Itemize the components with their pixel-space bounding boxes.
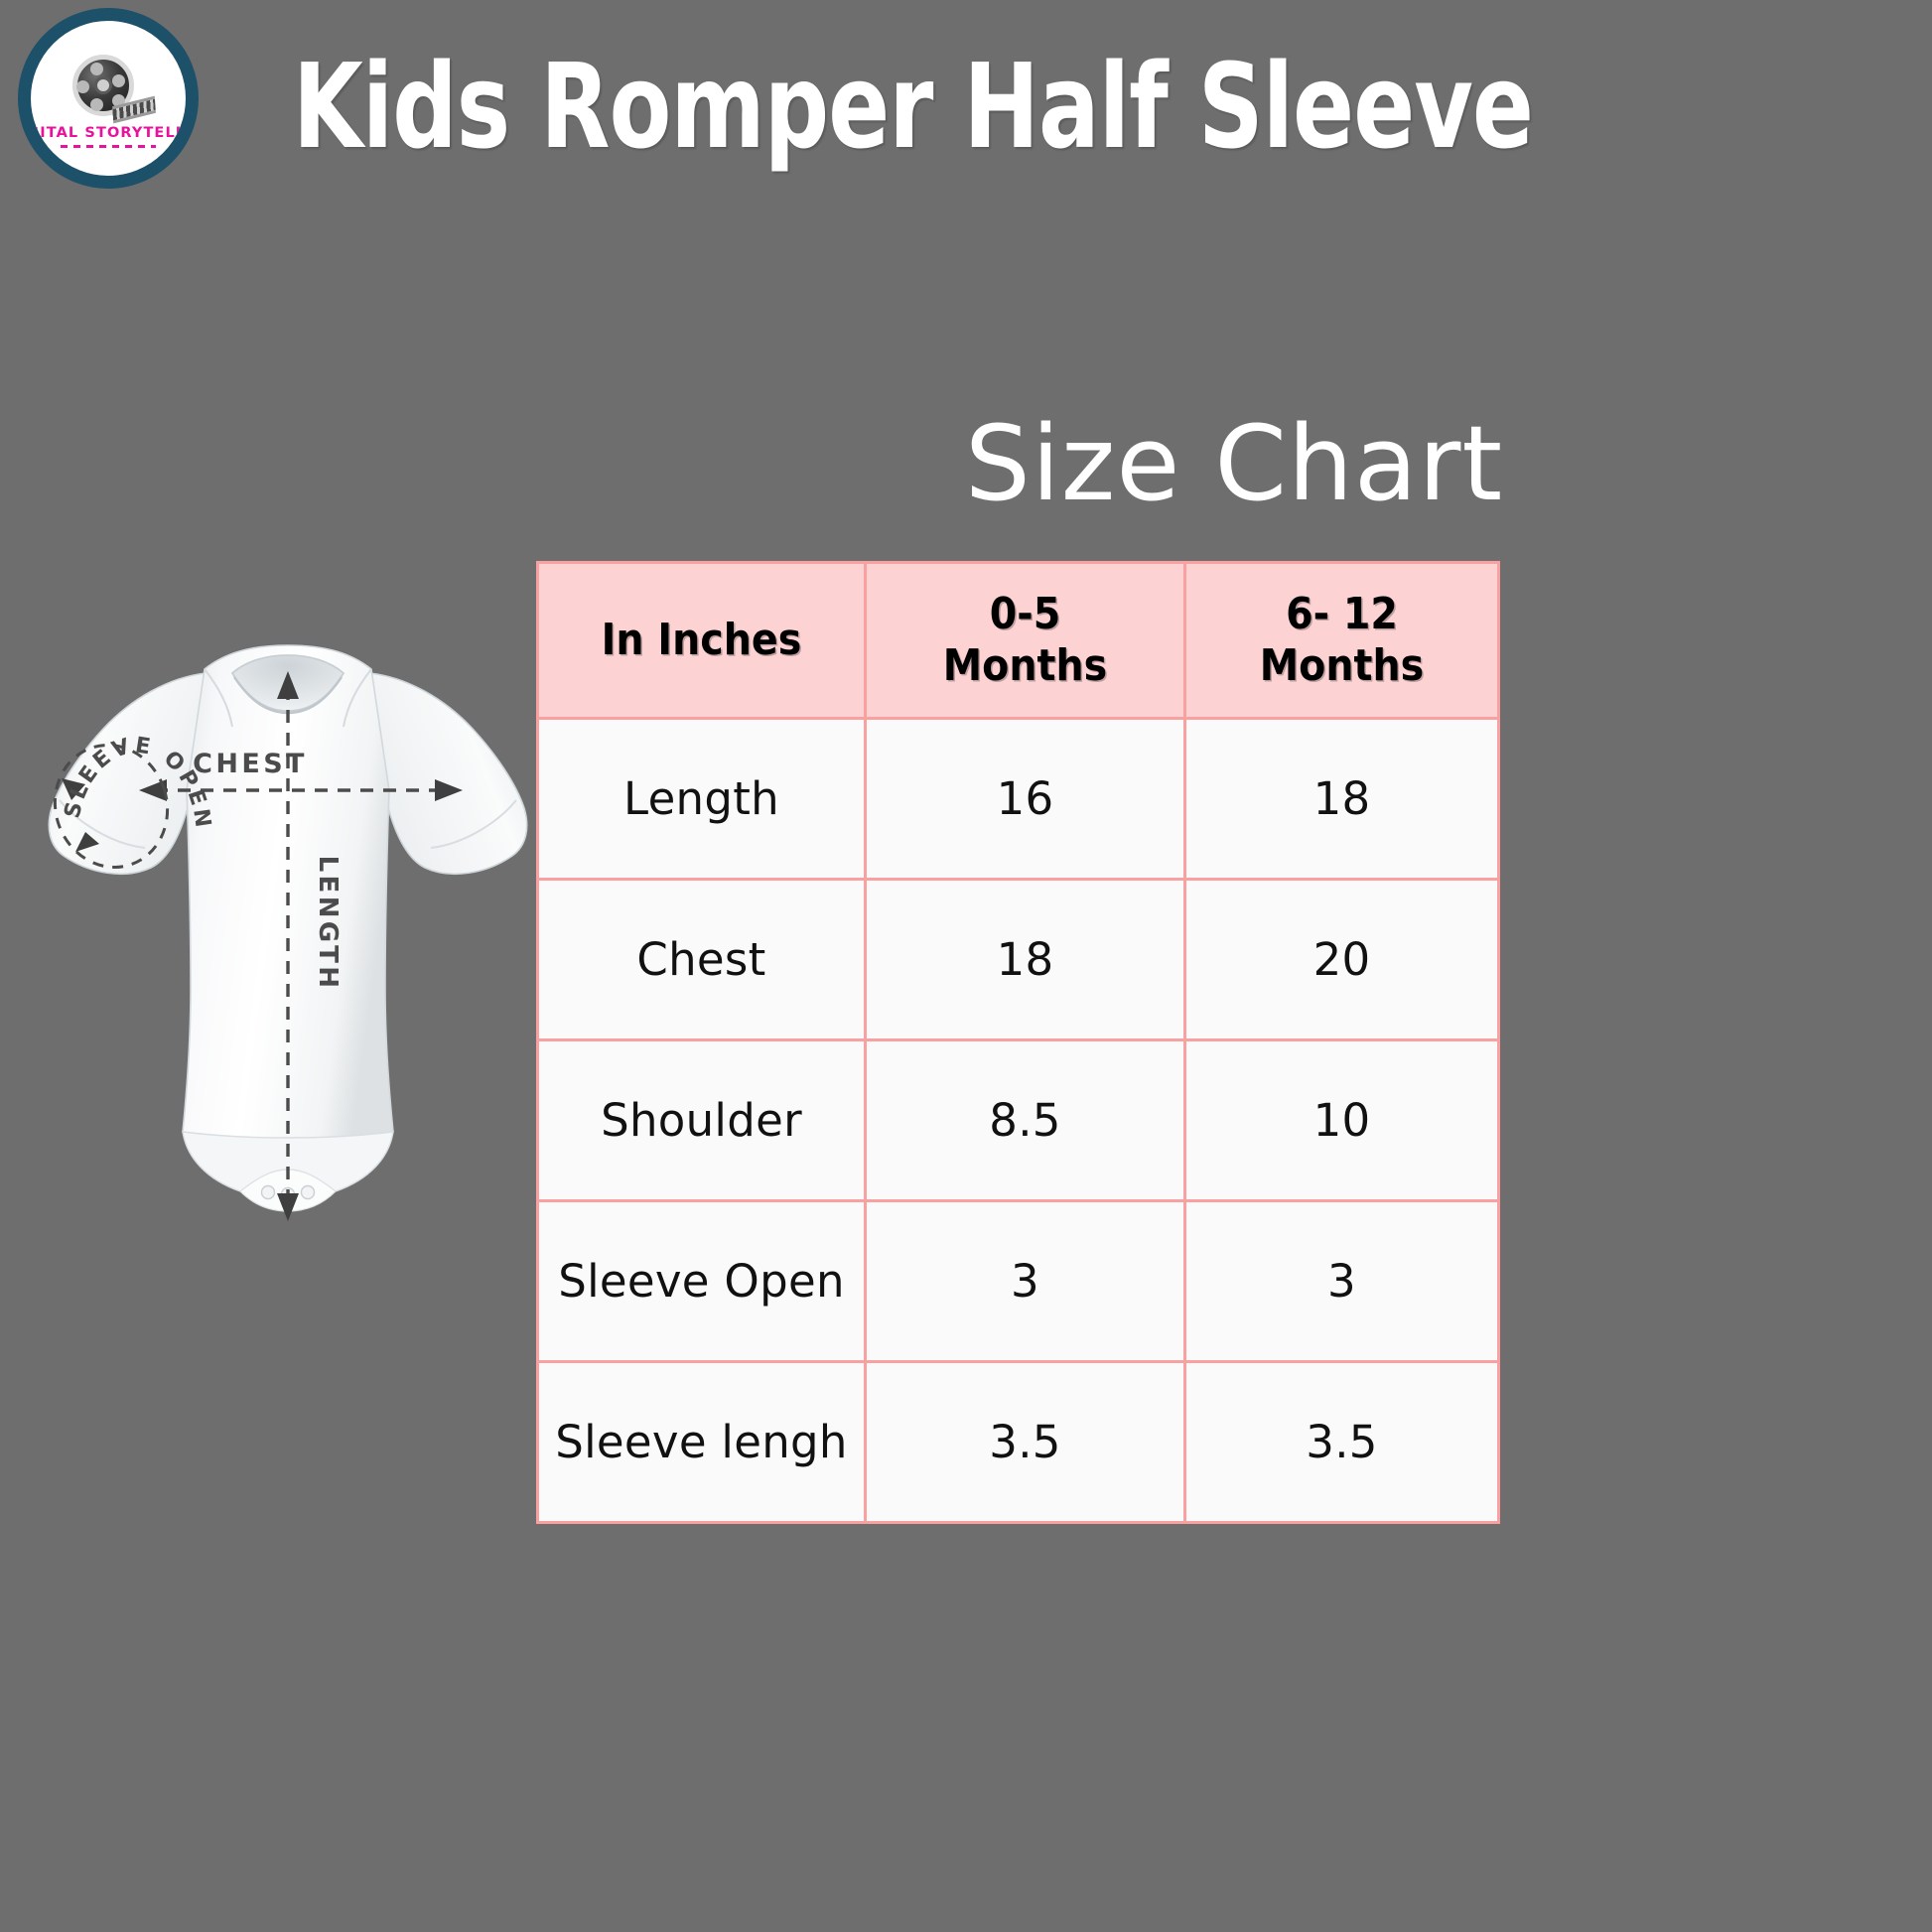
value-6-12-months: 3.5: [1185, 1362, 1499, 1523]
value-6-12-months: 18: [1185, 719, 1499, 880]
value-0-5-months: 8.5: [866, 1040, 1185, 1201]
measure-name: Sleeve lengh: [538, 1362, 866, 1523]
value-0-5-months: 3.5: [866, 1362, 1185, 1523]
brand-logo: DIGITAL STORYTELLER: [18, 8, 199, 189]
column-header-6-12-months-line1: 6- 12: [1187, 589, 1496, 640]
measure-name: Shoulder: [538, 1040, 866, 1201]
column-header-0-5-months-line1: 0-5: [868, 589, 1182, 640]
table-row: Sleeve lengh 3.5 3.5: [538, 1362, 1499, 1523]
brand-wordmark: DIGITAL STORYTELLER: [18, 125, 199, 141]
measure-name: Sleeve Open: [538, 1201, 866, 1362]
size-chart-table: In Inches 0-5 Months 6- 12 Months Length…: [536, 561, 1500, 1524]
chest-label: CHEST: [193, 749, 308, 779]
size-chart-heading: Size Chart: [0, 412, 1932, 515]
value-6-12-months: 10: [1185, 1040, 1499, 1201]
value-0-5-months: 16: [866, 719, 1185, 880]
length-label: LENGTH: [313, 856, 343, 992]
column-header-0-5-months: 0-5 Months: [866, 563, 1185, 719]
column-header-measure: In Inches: [538, 563, 866, 719]
table-header-row: In Inches 0-5 Months 6- 12 Months: [538, 563, 1499, 719]
value-0-5-months: 3: [866, 1201, 1185, 1362]
column-header-0-5-months-line2: Months: [868, 640, 1182, 692]
page-title: Kids Romper Half Sleeve: [293, 48, 1533, 165]
value-6-12-months: 3: [1185, 1201, 1499, 1362]
size-chart-table-container: In Inches 0-5 Months 6- 12 Months Length…: [536, 561, 1497, 1524]
film-reel-icon: [63, 55, 154, 120]
table-row: Chest 18 20: [538, 880, 1499, 1040]
column-header-measure-line1: In Inches: [602, 615, 802, 665]
table-row: Length 16 18: [538, 719, 1499, 880]
table-row: Shoulder 8.5 10: [538, 1040, 1499, 1201]
table-row: Sleeve Open 3 3: [538, 1201, 1499, 1362]
value-0-5-months: 18: [866, 880, 1185, 1040]
measure-name: Length: [538, 719, 866, 880]
column-header-6-12-months: 6- 12 Months: [1185, 563, 1499, 719]
logo-dash-rule: [61, 145, 156, 148]
value-6-12-months: 20: [1185, 880, 1499, 1040]
measure-name: Chest: [538, 880, 866, 1040]
column-header-6-12-months-line2: Months: [1187, 640, 1496, 692]
right-sleeve: [367, 673, 527, 874]
baby-romper-illustration: LENGTH CHEST SLEEVE OPEN: [20, 596, 556, 1251]
